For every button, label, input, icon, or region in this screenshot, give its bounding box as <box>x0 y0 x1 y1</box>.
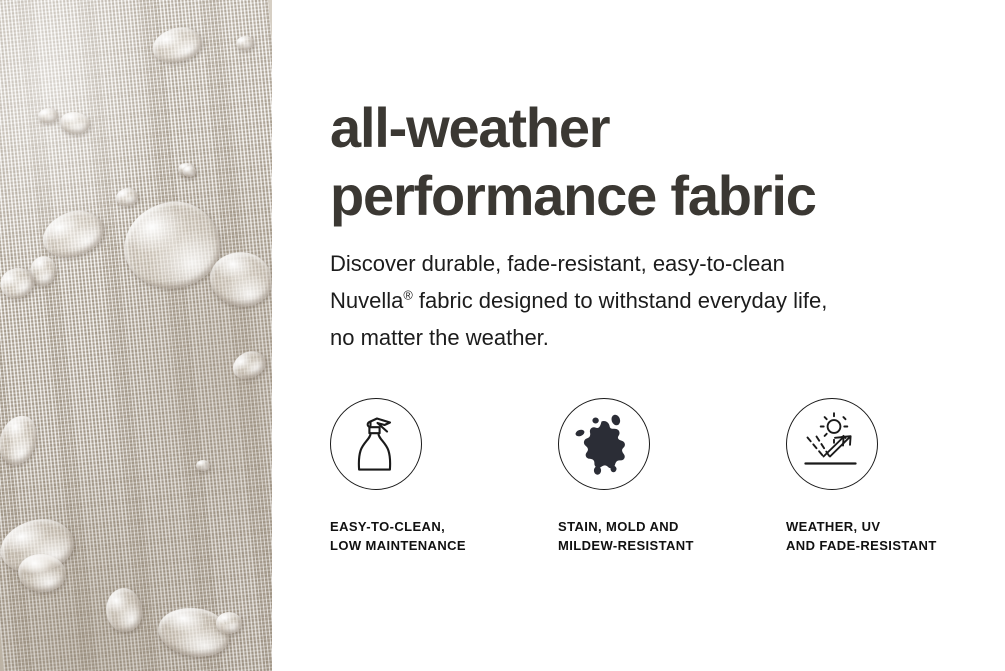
water-droplet <box>183 166 196 177</box>
promo-description: Discover durable, fade-resistant, easy-t… <box>330 245 827 356</box>
spray-bottle-icon <box>330 398 422 490</box>
feature-caption: STAIN, MOLD AND MILDEW-RESISTANT <box>558 517 786 555</box>
registered-trademark-icon: ® <box>403 288 412 303</box>
feature-easy-to-clean: EASY-TO-CLEAN, LOW MAINTENANCE <box>330 398 558 555</box>
description-line-3: no matter the weather. <box>330 325 549 350</box>
promo-content: all-weather performance fabric Discover … <box>272 0 1005 671</box>
feature-stain-resistant: STAIN, MOLD AND MILDEW-RESISTANT <box>558 398 786 555</box>
all-weather-fabric-promo: all-weather performance fabric Discover … <box>0 0 1005 671</box>
feature-caption: EASY-TO-CLEAN, LOW MAINTENANCE <box>330 517 558 555</box>
sun-uv-reflect-icon <box>786 398 878 490</box>
stain-splatter-icon <box>558 398 650 490</box>
water-droplet <box>216 612 242 634</box>
feature-list: EASY-TO-CLEAN, LOW MAINTENANCE STAIN, MO… <box>330 398 1005 555</box>
feature-caption: WEATHER, UV AND FADE-RESISTANT <box>786 517 1005 555</box>
page-title: all-weather performance fabric <box>330 94 816 230</box>
description-line-1: Discover durable, fade-resistant, easy-t… <box>330 251 785 276</box>
description-line-2: fabric designed to withstand everyday li… <box>413 288 828 313</box>
water-droplet <box>196 460 210 471</box>
fabric-photo <box>0 0 272 671</box>
feature-weather-uv-resistant: WEATHER, UV AND FADE-RESISTANT <box>786 398 1005 555</box>
brand-name: Nuvella <box>330 288 403 313</box>
